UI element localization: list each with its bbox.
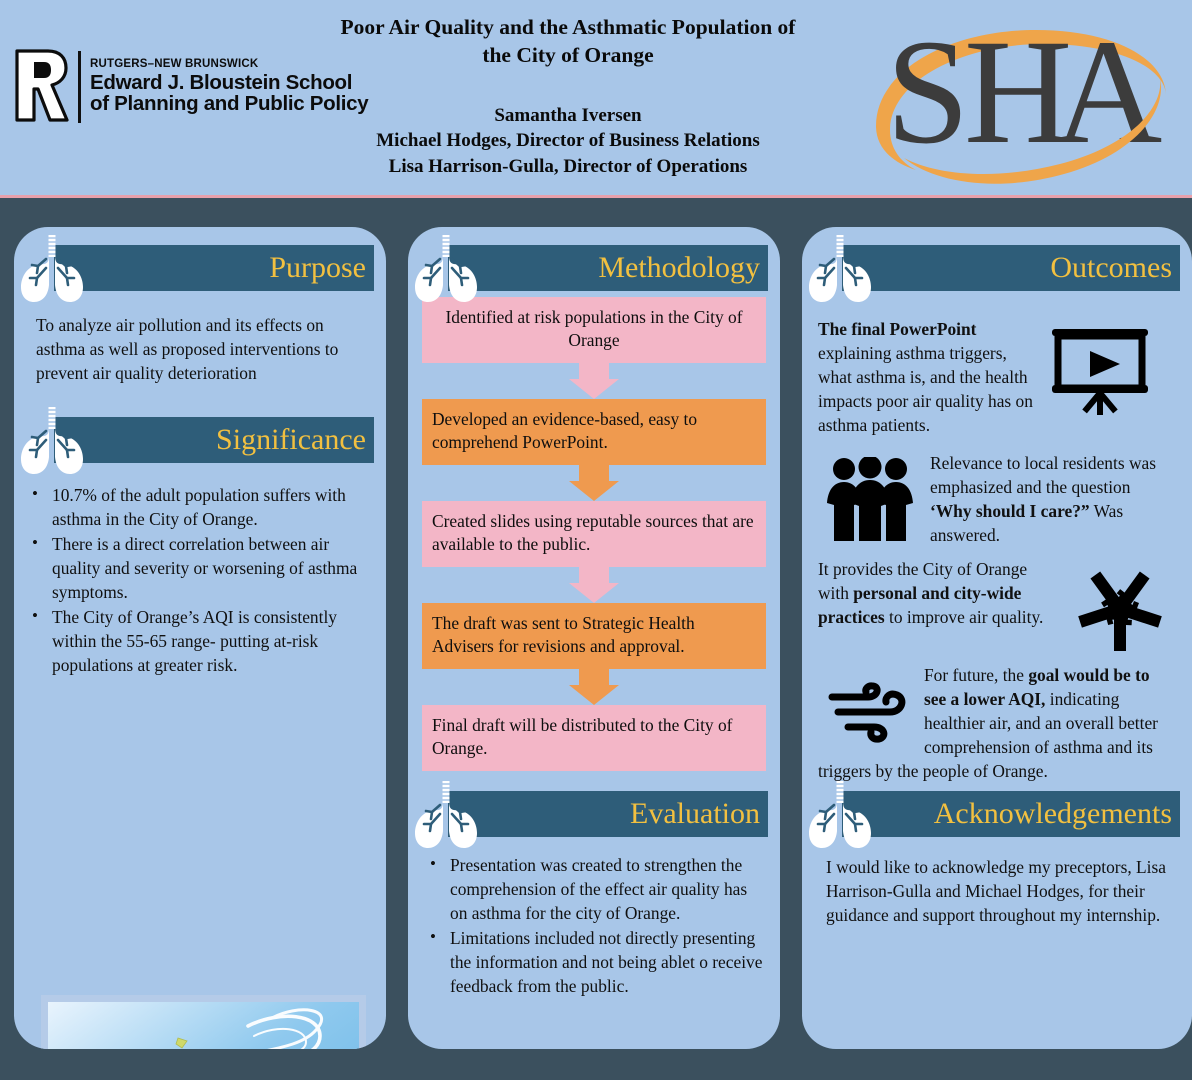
flow-arrow-2 — [422, 567, 766, 603]
rutgers-r-monogram-icon — [14, 48, 70, 126]
flow-arrow-1 — [422, 465, 766, 501]
heading-title-methodology: Methodology — [598, 253, 760, 283]
heading-title-outcomes: Outcomes — [1050, 253, 1172, 283]
heading-title-acknowledgements: Acknowledgements — [934, 799, 1172, 829]
list-item: Limitations included not directly presen… — [420, 926, 768, 998]
section-head-methodology: Methodology — [408, 245, 780, 291]
outcome-paragraph-1-rest: explaining asthma triggers, what asthma … — [818, 343, 1033, 435]
author-2: Lisa Harrison-Gulla, Director of Operati… — [288, 154, 848, 179]
card-purpose: Purpose — [14, 227, 386, 1049]
title-block: Poor Air Quality and the Asthmatic Popul… — [288, 14, 848, 179]
flow-step-1: Developed an evidence-based, easy to com… — [422, 399, 766, 465]
logo-divider — [78, 51, 81, 123]
acknowledgements-text: I would like to acknowledge my preceptor… — [826, 855, 1172, 927]
lungs-icon — [16, 407, 88, 475]
poster-body: Purpose — [0, 198, 1192, 1080]
poster-title: Poor Air Quality and the Asthmatic Popul… — [288, 14, 848, 69]
evaluation-bullet-list: Presentation was created to strengthen t… — [420, 853, 768, 998]
purpose-paragraph: To analyze air pollution and its effects… — [36, 313, 366, 385]
heading-bar-acknowledgements: Acknowledgements — [842, 791, 1180, 837]
three-people-icon — [822, 457, 918, 543]
list-item: The City of Orange’s AQI is consistently… — [22, 605, 372, 677]
outcome-block-relevance: Relevance to local residents was emphasi… — [818, 451, 1176, 547]
poster-header: RUTGERS–NEW BRUNSWICK Edward J. Bloustei… — [0, 0, 1192, 198]
flow-arrow-3 — [422, 669, 766, 705]
wind-trees-illustration — [41, 995, 366, 1049]
outcome-paragraph-2-pre: Relevance to local residents was emphasi… — [930, 453, 1156, 497]
section-head-outcomes: Outcomes — [802, 245, 1192, 291]
outcome-paragraph-1-bold: The final PowerPoint — [818, 319, 976, 339]
outcome-paragraph-2-bold: ‘Why should I care?” — [930, 501, 1090, 521]
outcome-paragraph-3-post: to improve air quality. — [885, 607, 1044, 627]
outcome-paragraph-4-pre: For future, the — [924, 665, 1028, 685]
lungs-icon — [804, 235, 876, 303]
heading-title-significance: Significance — [216, 425, 366, 455]
flow-step-3: The draft was sent to Strategic Health A… — [422, 603, 766, 669]
outcome-block-practices: It provides the City of Orange with pers… — [818, 557, 1176, 657]
outcome-block-powerpoint: The final PowerPoint explaining asthma t… — [818, 317, 1176, 437]
section-head-evaluation: Evaluation — [408, 791, 780, 837]
heading-bar-evaluation: Evaluation — [448, 791, 768, 837]
author-list: Samantha Iversen Michael Hodges, Directo… — [288, 103, 848, 179]
list-item: Presentation was created to strengthen t… — [420, 853, 768, 925]
author-1: Michael Hodges, Director of Business Rel… — [288, 128, 848, 153]
svg-text:S: S — [886, 9, 969, 175]
helping-hands-icon — [1068, 557, 1172, 655]
section-head-significance: Significance — [14, 417, 386, 463]
heading-bar-outcomes: Outcomes — [842, 245, 1180, 291]
methodology-flowchart: Identified at risk populations in the Ci… — [422, 297, 766, 771]
significance-bullet-list: 10.7% of the adult population suffers wi… — [22, 483, 372, 677]
flow-step-0: Identified at risk populations in the Ci… — [422, 297, 766, 363]
heading-bar-purpose: Purpose — [54, 245, 374, 291]
heading-title-purpose: Purpose — [269, 253, 366, 283]
sha-logo-icon: S H A — [868, 8, 1168, 188]
heading-bar-methodology: Methodology — [448, 245, 768, 291]
wind-icon — [828, 681, 914, 743]
section-head-acknowledgements: Acknowledgements — [802, 791, 1192, 837]
poster-title-line-2: the City of Orange — [288, 42, 848, 70]
flow-step-2: Created slides using reputable sources t… — [422, 501, 766, 567]
heading-bar-significance: Significance — [54, 417, 374, 463]
outcome-block-future-goal: For future, the goal would be to see a l… — [818, 663, 1176, 783]
lungs-icon — [16, 235, 88, 303]
list-item: There is a direct correlation between ai… — [22, 532, 372, 604]
heading-title-evaluation: Evaluation — [630, 799, 760, 829]
lungs-icon — [410, 781, 482, 849]
flow-step-4: Final draft will be distributed to the C… — [422, 705, 766, 771]
section-head-purpose: Purpose — [14, 245, 386, 291]
flow-arrow-0 — [422, 363, 766, 399]
author-0: Samantha Iversen — [288, 103, 848, 128]
poster-title-line-1: Poor Air Quality and the Asthmatic Popul… — [288, 14, 848, 42]
list-item: 10.7% of the adult population suffers wi… — [22, 483, 372, 531]
lungs-icon — [804, 781, 876, 849]
presentation-screen-icon — [1048, 323, 1152, 419]
card-methodology: Methodology — [408, 227, 780, 1049]
lungs-icon — [410, 235, 482, 303]
card-outcomes: Outcomes — [802, 227, 1192, 1049]
